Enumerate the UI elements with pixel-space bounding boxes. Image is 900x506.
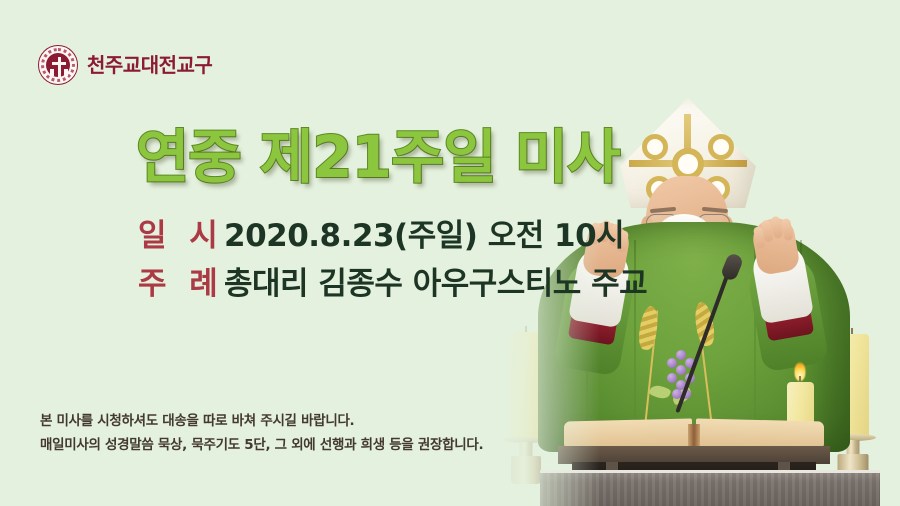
detail-value-datetime: 2020.8.23(주일) 오전 10시 (224, 216, 624, 258)
detail-row-celebrant: 주 례 총대리 김종수 아우구스티노 주교 (138, 264, 647, 306)
finger (781, 218, 794, 241)
footnote-line-2: 매일미사의 성경말씀 묵상, 묵주기도 5단, 그 외에 선행과 희생 등을 권… (40, 434, 483, 458)
mass-details: 일 시 2020.8.23(주일) 오전 10시 주 례 총대리 김종수 아우구… (138, 216, 647, 306)
wheat-ear-icon (637, 305, 660, 351)
book-page-right (696, 418, 824, 449)
footnote-line-1: 본 미사를 시청하셔도 대송을 따로 바쳐 주시길 바랍니다. (40, 410, 483, 434)
mass-announcement-poster: 천주교대전교구 연중 제21주일 미사 일 시 2020.8.23(주일) 오전… (0, 0, 900, 506)
book-page-left (564, 418, 692, 449)
lectern-base (540, 470, 880, 506)
wheat-and-grapes-embroidery (628, 300, 738, 430)
footnotes: 본 미사를 시청하셔도 대송을 따로 바쳐 주시길 바랍니다. 매일미사의 성경… (40, 410, 483, 457)
mitre-ring (708, 134, 734, 160)
mitre-ring (642, 134, 668, 160)
detail-row-datetime: 일 시 2020.8.23(주일) 오전 10시 (138, 216, 647, 258)
detail-label-datetime: 일 시 (138, 216, 224, 258)
diocese-seal-icon (38, 45, 78, 85)
page-title: 연중 제21주일 미사 (136, 124, 620, 191)
detail-value-celebrant: 총대리 김종수 아우구스티노 주교 (224, 264, 647, 306)
detail-label-celebrant: 주 례 (138, 264, 224, 306)
diocese-name: 천주교대전교구 (87, 55, 212, 75)
diocese-brand: 천주교대전교구 (38, 45, 212, 85)
